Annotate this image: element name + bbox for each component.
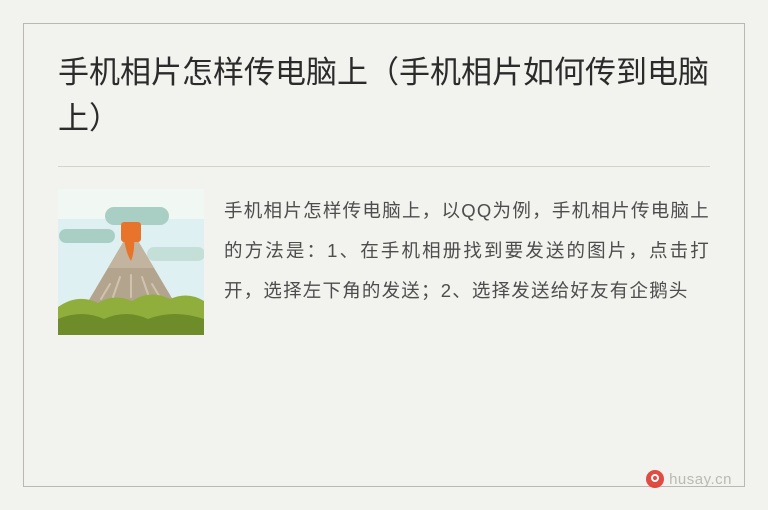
article-container: 手机相片怎样传电脑上（手机相片如何传到电脑上） [58, 48, 710, 462]
volcano-illustration-svg [58, 189, 204, 335]
page-title: 手机相片怎样传电脑上（手机相片如何传到电脑上） [58, 48, 710, 142]
watermark-text: husay.cn [669, 471, 732, 488]
title-divider [58, 166, 710, 167]
article-paragraph: 手机相片怎样传电脑上，以QQ为例，手机相片传电脑上的方法是：1、在手机相册找到要… [224, 189, 710, 311]
page-root: 手机相片怎样传电脑上（手机相片如何传到电脑上） [0, 0, 768, 510]
watermark: husay.cn [646, 470, 732, 488]
article-body-area: 手机相片怎样传电脑上，以QQ为例，手机相片传电脑上的方法是：1、在手机相册找到要… [58, 189, 710, 335]
circle-badge-icon [646, 470, 664, 488]
volcano-illustration-icon [58, 189, 204, 335]
